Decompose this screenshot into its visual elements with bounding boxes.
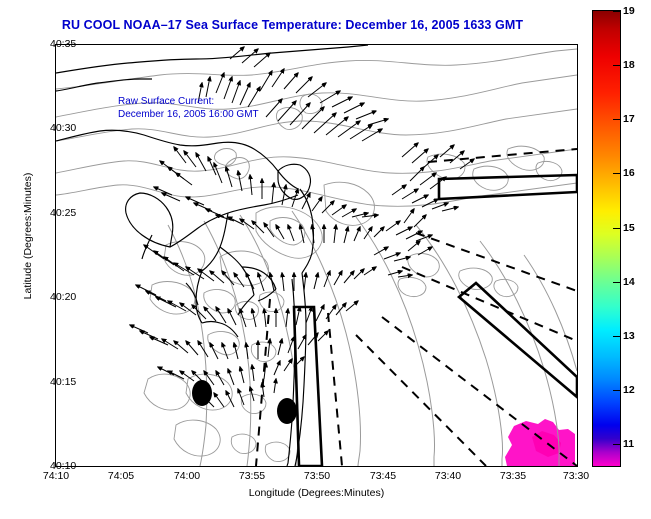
xtick-4: 73:50	[304, 470, 330, 482]
xtick-1: 74:05	[108, 470, 134, 482]
xtick-6: 73:40	[435, 470, 461, 482]
raw-current-annotation: Raw Surface Current: December 16, 2005 1…	[118, 95, 259, 121]
annotation-line-1: Raw Surface Current:	[118, 95, 259, 108]
annotation-line-2: December 16, 2005 16:00 GMT	[118, 108, 259, 121]
y-axis-label: Latitude (Degrees:Minutes)	[22, 116, 34, 356]
ytick-5: 40:10	[50, 460, 76, 472]
ytick-1: 40:30	[50, 122, 76, 134]
cbtick-2: 17	[623, 113, 635, 125]
cbtick-0: 19	[623, 5, 635, 17]
xtick-7: 73:35	[500, 470, 526, 482]
shipping-lanes	[294, 175, 577, 466]
ytick-4: 40:15	[50, 376, 76, 388]
station-markers	[192, 380, 297, 424]
colorbar-gradient	[593, 11, 620, 466]
cbtick-4: 15	[623, 222, 635, 234]
cbtick-1: 18	[623, 59, 635, 71]
xtick-3: 73:55	[239, 470, 265, 482]
map-plot-area: Raw Surface Current: December 16, 2005 1…	[55, 44, 578, 467]
figure-title: RU COOL NOAA–17 Sea Surface Temperature:…	[0, 18, 585, 32]
ytick-2: 40:25	[50, 207, 76, 219]
ytick-0: 40:35	[50, 38, 76, 50]
cbtick-6: 13	[623, 330, 635, 342]
xtick-2: 74:00	[174, 470, 200, 482]
xtick-5: 73:45	[370, 470, 396, 482]
ytick-3: 40:20	[50, 291, 76, 303]
cold-water-patch	[505, 419, 575, 466]
cbtick-5: 14	[623, 276, 635, 288]
cbtick-8: 11	[623, 438, 634, 450]
cbtick-3: 16	[623, 167, 635, 179]
sst-map-figure: RU COOL NOAA–17 Sea Surface Temperature:…	[0, 0, 651, 519]
colorbar	[592, 10, 621, 467]
cbtick-7: 12	[623, 384, 635, 396]
xtick-8: 73:30	[563, 470, 589, 482]
x-axis-label: Longitude (Degrees:Minutes)	[55, 487, 578, 499]
